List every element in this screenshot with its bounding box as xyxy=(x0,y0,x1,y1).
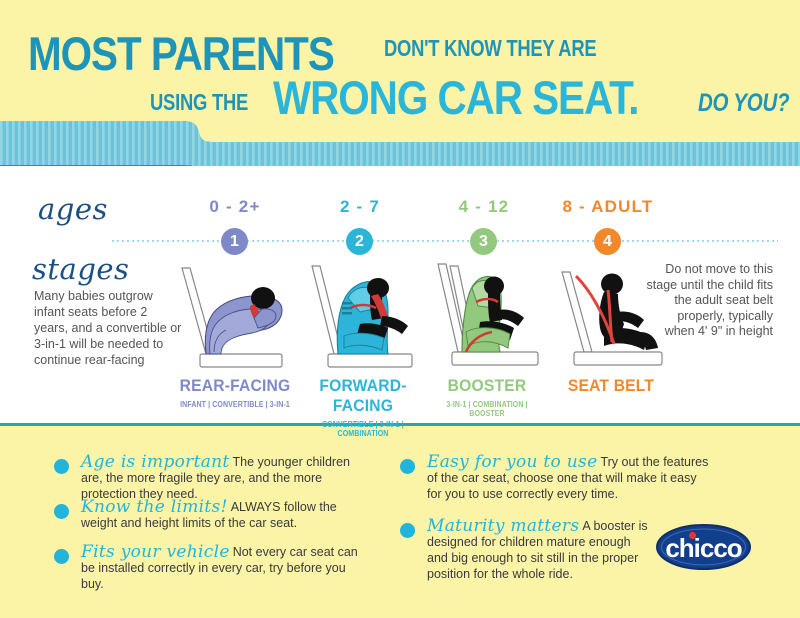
ages-label: ages xyxy=(38,192,108,226)
age-range-3: 4 - 12 xyxy=(424,197,544,217)
stages-intro-text: Many babies outgrow infant seats before … xyxy=(34,288,184,368)
headline-dont-know: DON'T KNOW THEY ARE xyxy=(384,35,596,62)
stage-number-4: 4 xyxy=(594,228,621,255)
tip-text-3: Fits your vehicleNot every car seat can … xyxy=(81,544,359,592)
headline: MOST PARENTSDON'T KNOW THEY ARE USING TH… xyxy=(0,30,800,122)
tip-heading-1: Age is important xyxy=(81,452,230,472)
stage-note-text: Do not move to this stage until the chil… xyxy=(645,262,773,340)
chicco-wordmark: chicco xyxy=(665,533,741,563)
bullet-icon xyxy=(400,459,415,474)
stage-name-3: BOOSTER xyxy=(427,376,547,396)
stage-number-3: 3 xyxy=(470,228,497,255)
tip-heading-4: Easy for you to use xyxy=(427,452,597,472)
rear-facing-car-seat-icon xyxy=(170,262,300,372)
stage-timeline xyxy=(112,240,778,242)
stage-number-2: 2 xyxy=(346,228,373,255)
age-range-2: 2 - 7 xyxy=(300,197,420,217)
tip-text-2: Know the limits!ALWAYS follow the weight… xyxy=(81,499,359,531)
tip-item-2: Know the limits!ALWAYS follow the weight… xyxy=(54,499,359,531)
stages-label: stages xyxy=(32,252,129,286)
tip-heading-3: Fits your vehicle xyxy=(81,542,230,562)
tip-text-1: Age is importantThe younger children are… xyxy=(81,454,359,502)
stage-name-4: SEAT BELT xyxy=(551,376,671,396)
chicco-logo: chicco xyxy=(656,524,751,570)
chicco-red-dot xyxy=(689,532,696,539)
tip-item-1: Age is importantThe younger children are… xyxy=(54,454,359,502)
bullet-icon xyxy=(400,523,415,538)
bullet-icon xyxy=(54,504,69,519)
tip-heading-5: Maturity matters xyxy=(427,516,579,536)
tip-item-3: Fits your vehicleNot every car seat can … xyxy=(54,544,359,592)
stage-column-1: REAR-FACING INFANT | CONVERTIBLE | 3-IN-… xyxy=(170,262,300,409)
bullet-icon xyxy=(54,549,69,564)
headline-most-parents: MOST PARENTS xyxy=(28,30,334,77)
headline-line-1: MOST PARENTSDON'T KNOW THEY ARE xyxy=(28,30,649,77)
tip-item-4: Easy for you to useTry out the features … xyxy=(400,454,710,502)
tip-heading-2: Know the limits! xyxy=(81,497,228,517)
stage-sub-1: INFANT | CONVERTIBLE | 3-IN-1 xyxy=(178,400,292,409)
stage-name-1: REAR-FACING xyxy=(175,376,295,396)
stage-column-3: BOOSTER 3-IN-1 | COMBINATION | BOOSTER xyxy=(422,262,552,418)
tip-text-5: Maturity mattersA booster is designed fo… xyxy=(427,518,648,582)
stage-column-2: FORWARD-FACING CONVERTIBLE | 3-IN-1 | CO… xyxy=(298,262,428,438)
infographic-page: MOST PARENTSDON'T KNOW THEY ARE USING TH… xyxy=(0,0,800,618)
stage-number-1: 1 xyxy=(221,228,248,255)
stage-name-2: FORWARD-FACING xyxy=(303,376,423,416)
tip-text-4: Easy for you to useTry out the features … xyxy=(427,454,710,502)
age-range-4: 8 - ADULT xyxy=(548,197,668,217)
stage-sub-3: 3-IN-1 | COMBINATION | BOOSTER xyxy=(430,400,544,418)
booster-seat-icon xyxy=(422,262,552,372)
tip-item-5: Maturity mattersA booster is designed fo… xyxy=(400,518,648,582)
forward-facing-car-seat-icon xyxy=(298,262,428,372)
bullet-icon xyxy=(54,459,69,474)
age-range-1: 0 - 2+ xyxy=(175,197,295,217)
